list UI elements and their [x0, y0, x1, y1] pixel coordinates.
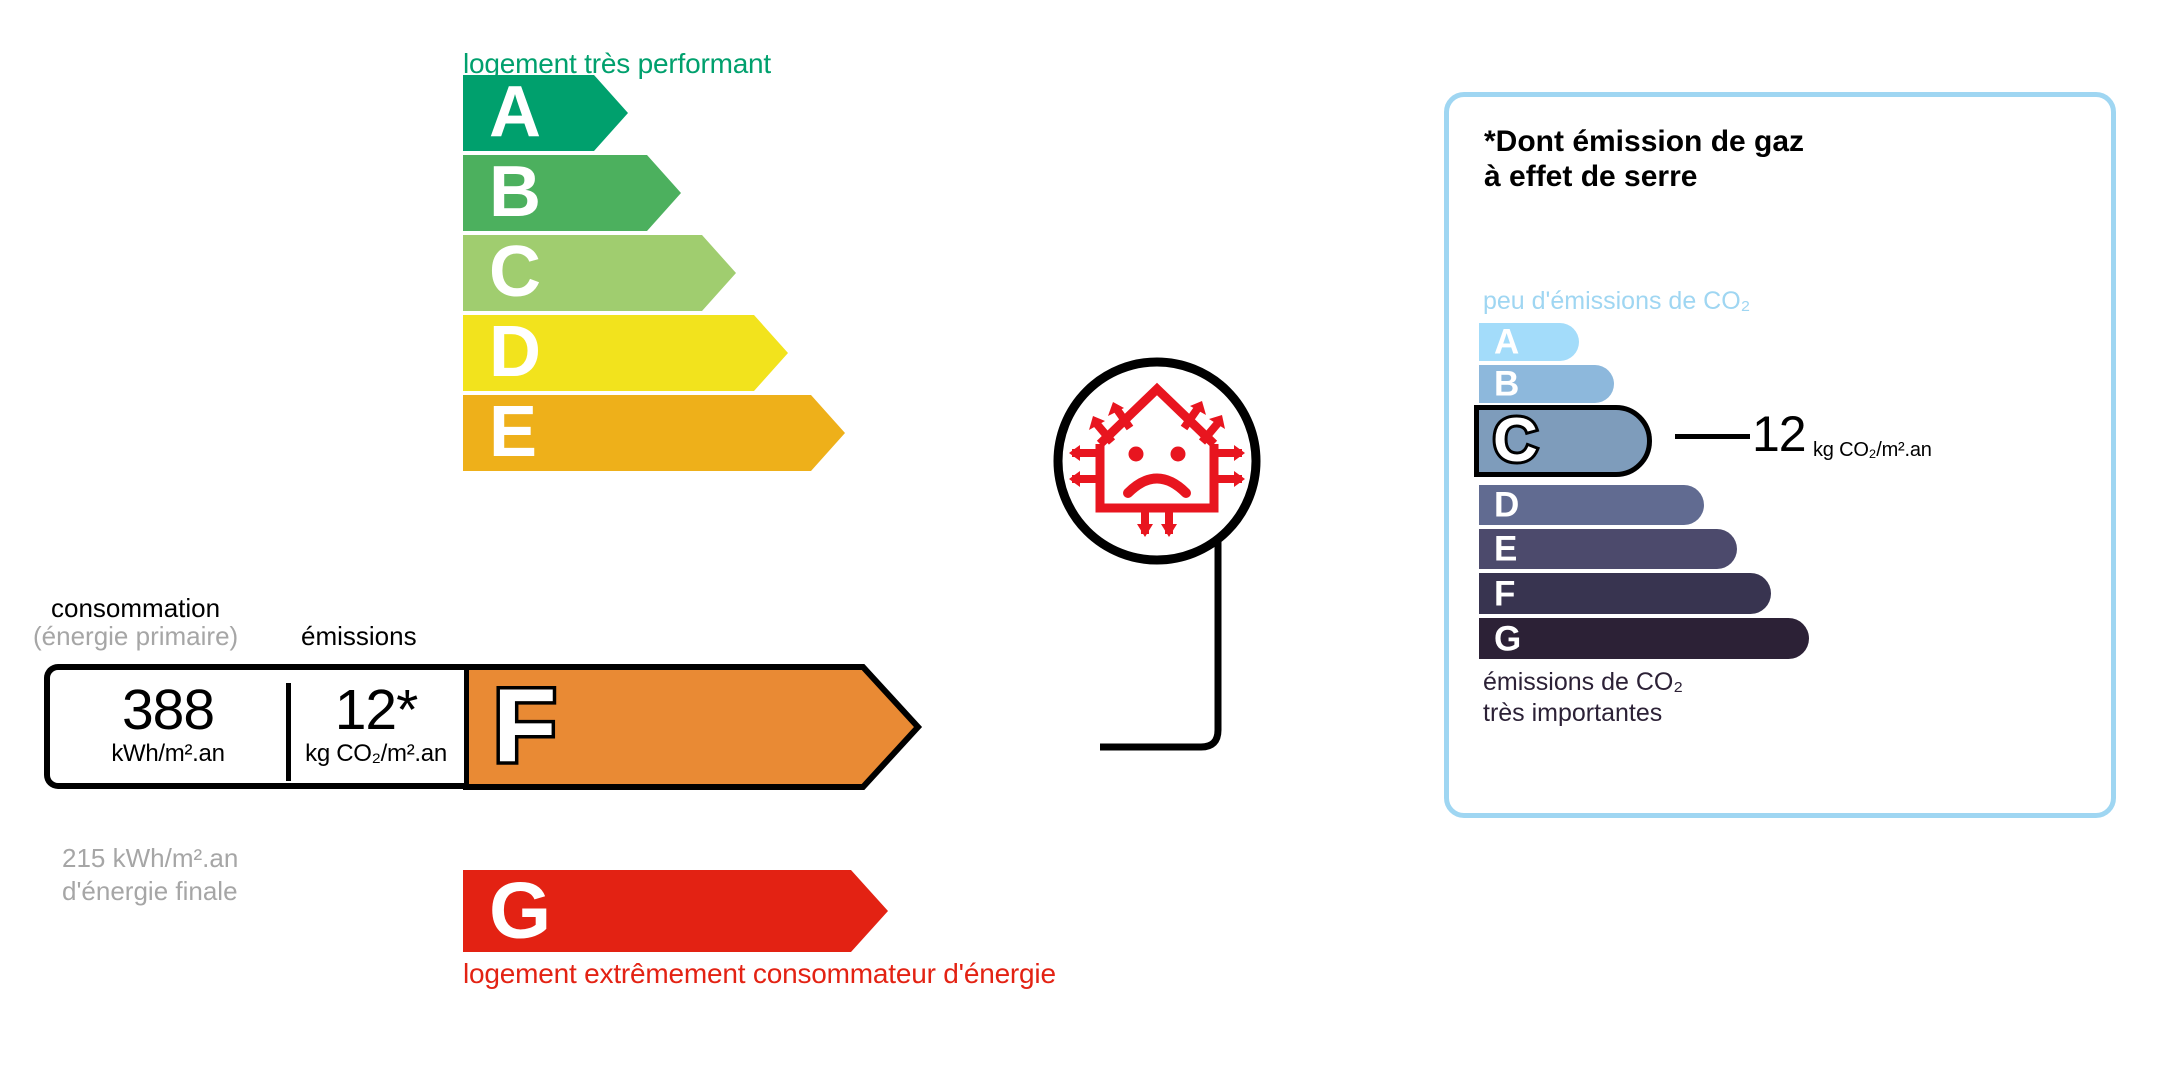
energy-bar-b-letter: B: [489, 162, 541, 224]
co2-bar-c[interactable]: C: [1474, 405, 1652, 477]
final-energy-line2: d'énergie finale: [62, 875, 238, 908]
co2-top-caption: peu d'émissions de CO₂: [1483, 287, 1750, 316]
co2-bar-b-letter: B: [1494, 367, 1519, 402]
energy-bar-a-letter: A: [489, 82, 541, 144]
label-consumption: consommation: [51, 593, 220, 624]
value-box-divider: [286, 683, 291, 781]
co2-bar-g[interactable]: G: [1479, 618, 1809, 659]
energy-unit: kWh/m².an: [54, 740, 282, 768]
energy-bar-f-letter: F: [493, 682, 557, 771]
co2-bottom-line2: très importantes: [1483, 698, 1683, 729]
co2-value-cell: 12* kg CO₂/m².an: [294, 678, 458, 768]
co2-value: 12*: [294, 678, 458, 743]
energy-bar-a-shape: [463, 75, 628, 151]
co2-callout-line: [1675, 434, 1750, 439]
energy-bar-d-letter: D: [489, 322, 541, 384]
co2-bar-b[interactable]: B: [1479, 365, 1614, 403]
co2-bar-a-letter: A: [1494, 325, 1519, 360]
energy-bar-g[interactable]: G: [463, 870, 888, 952]
consumption-value-box: 388 kWh/m².an 12* kg CO₂/m².an: [44, 664, 464, 789]
label-emissions: émissions: [301, 621, 417, 652]
energy-value-cell: 388 kWh/m².an: [54, 678, 282, 768]
dpe-diagram: logement très performant A B C D E: [0, 0, 2169, 1079]
co2-callout-unit: kg CO₂/m².an: [1813, 440, 1932, 460]
co2-bar-f[interactable]: F: [1479, 573, 1771, 614]
co2-title-line2: à effet de serre: [1484, 159, 1804, 194]
energy-bar-a[interactable]: A: [463, 75, 628, 151]
co2-bar-c-letter: C: [1493, 410, 1538, 472]
co2-bottom-caption: émissions de CO₂ très importantes: [1483, 667, 1683, 728]
energy-value: 388: [54, 678, 282, 743]
co2-bar-d[interactable]: D: [1479, 485, 1704, 525]
energy-bar-b[interactable]: B: [463, 155, 681, 231]
final-energy-line1: 215 kWh/m².an: [62, 842, 238, 875]
co2-unit: kg CO₂/m².an: [294, 740, 458, 768]
co2-bar-a[interactable]: A: [1479, 323, 1579, 361]
co2-bar-f-letter: F: [1494, 576, 1515, 611]
co2-callout-value: 12: [1752, 409, 1806, 459]
energy-bar-g-letter: G: [489, 877, 551, 946]
energy-bar-c-letter: C: [489, 242, 541, 304]
energy-bar-d[interactable]: D: [463, 315, 788, 391]
co2-title-line1: *Dont émission de gaz: [1484, 124, 1804, 159]
final-energy-note: 215 kWh/m².an d'énergie finale: [62, 842, 238, 909]
energy-bar-e[interactable]: E: [463, 395, 845, 471]
label-primary-energy: (énergie primaire): [33, 621, 238, 652]
sad-house-badge[interactable]: [1052, 356, 1262, 566]
energy-bottom-caption: logement extrêmement consommateur d'éner…: [463, 958, 1056, 990]
co2-panel-title: *Dont émission de gaz à effet de serre: [1484, 124, 1804, 195]
co2-bar-g-letter: G: [1494, 621, 1521, 656]
energy-bar-c[interactable]: C: [463, 235, 736, 311]
energy-bar-f[interactable]: F: [463, 664, 923, 790]
co2-bottom-line1: émissions de CO₂: [1483, 667, 1683, 698]
co2-bar-e[interactable]: E: [1479, 529, 1737, 569]
co2-bar-d-letter: D: [1494, 488, 1519, 523]
energy-bar-e-letter: E: [489, 402, 537, 464]
badge-connector: [1100, 540, 1290, 765]
co2-panel: *Dont émission de gaz à effet de serre p…: [1444, 92, 2116, 818]
co2-bar-e-letter: E: [1494, 532, 1517, 567]
